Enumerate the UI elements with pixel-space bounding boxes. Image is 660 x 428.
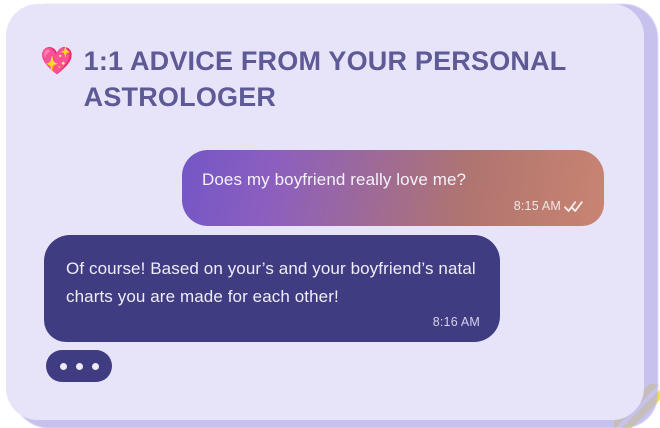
- page-header: 💖 1:1 ADVICE FROM YOUR PERSONAL ASTROLOG…: [40, 44, 604, 116]
- screenshot-stage: 💖 1:1 ADVICE FROM YOUR PERSONAL ASTROLOG…: [0, 0, 660, 428]
- message-row-incoming: Of course! Based on your’s and your boyf…: [44, 235, 604, 342]
- message-text: Does my boyfriend really love me?: [202, 166, 584, 194]
- message-bubble-incoming[interactable]: Of course! Based on your’s and your boyf…: [44, 235, 500, 342]
- typing-indicator: [46, 350, 112, 382]
- chat-card: 💖 1:1 ADVICE FROM YOUR PERSONAL ASTROLOG…: [6, 4, 644, 420]
- message-timestamp: 8:15 AM: [514, 199, 561, 213]
- sparkling-heart-emoji: 💖: [40, 46, 74, 76]
- message-text: Of course! Based on your’s and your boyf…: [66, 255, 480, 310]
- typing-dot-1: [60, 363, 67, 370]
- message-meta: 8:15 AM: [202, 196, 584, 216]
- message-meta: 8:16 AM: [66, 312, 480, 332]
- message-bubble-outgoing[interactable]: Does my boyfriend really love me? 8:15 A…: [182, 150, 604, 226]
- typing-dot-3: [92, 363, 99, 370]
- double-check-icon: [564, 200, 584, 213]
- message-timestamp: 8:16 AM: [433, 315, 480, 329]
- typing-dot-2: [76, 363, 83, 370]
- page-title: 1:1 ADVICE FROM YOUR PERSONAL ASTROLOGER: [84, 44, 574, 116]
- message-row-outgoing: Does my boyfriend really love me? 8:15 A…: [46, 150, 604, 226]
